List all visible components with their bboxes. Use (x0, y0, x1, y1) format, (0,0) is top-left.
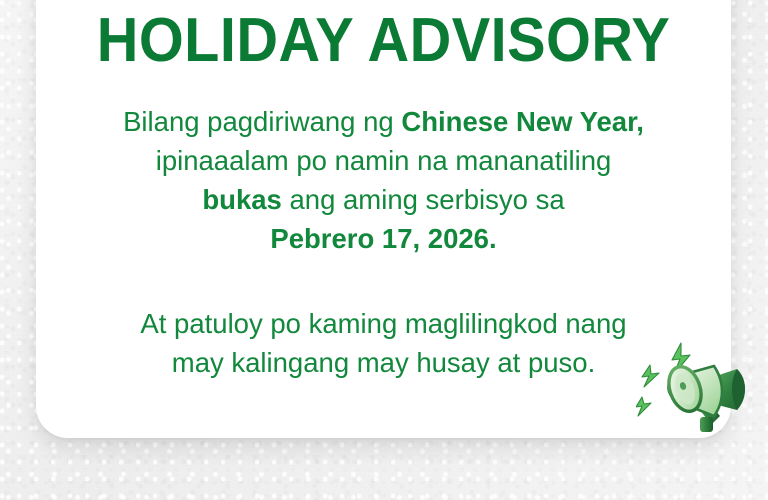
advisory-date: Pebrero 17, 2026. (270, 223, 496, 254)
paragraph-spacer (36, 258, 731, 304)
advisory-paragraph-2-line-2: may kalingang may husay at puso. (36, 343, 731, 382)
advisory-paragraph-1-line-2: ipinaaalam po namin na mananatiling (36, 141, 731, 180)
advisory-body: Bilang pagdiriwang ng Chinese New Year, … (36, 102, 731, 382)
paragraph-1-line-1-plain: Bilang pagdiriwang ng (123, 106, 401, 137)
advisory-paragraph-1-line-4: Pebrero 17, 2026. (36, 219, 731, 258)
advisory-card: HOLIDAY ADVISORY Bilang pagdiriwang ng C… (36, 0, 731, 438)
paragraph-1-line-3-plain: ang aming serbisyo sa (282, 184, 565, 215)
advisory-paragraph-2-line-1: At patuloy po kaming maglilingkod nang (36, 304, 731, 343)
advisory-card-content: HOLIDAY ADVISORY Bilang pagdiriwang ng C… (36, 0, 731, 438)
advisory-paragraph-1-line-3: bukas ang aming serbisyo sa (36, 180, 731, 219)
advisory-poster: HOLIDAY ADVISORY Bilang pagdiriwang ng C… (0, 0, 768, 500)
advisory-paragraph-2: At patuloy po kaming maglilingkod nang m… (36, 304, 731, 382)
advisory-paragraph-1: Bilang pagdiriwang ng Chinese New Year, … (36, 102, 731, 258)
page-title: HOLIDAY ADVISORY (60, 8, 706, 74)
advisory-paragraph-1-line-1: Bilang pagdiriwang ng Chinese New Year, (36, 102, 731, 141)
megaphone-icon (636, 333, 748, 437)
paragraph-1-line-1-bold: Chinese New Year, (401, 106, 644, 137)
paragraph-1-line-3-bold: bukas (202, 184, 281, 215)
